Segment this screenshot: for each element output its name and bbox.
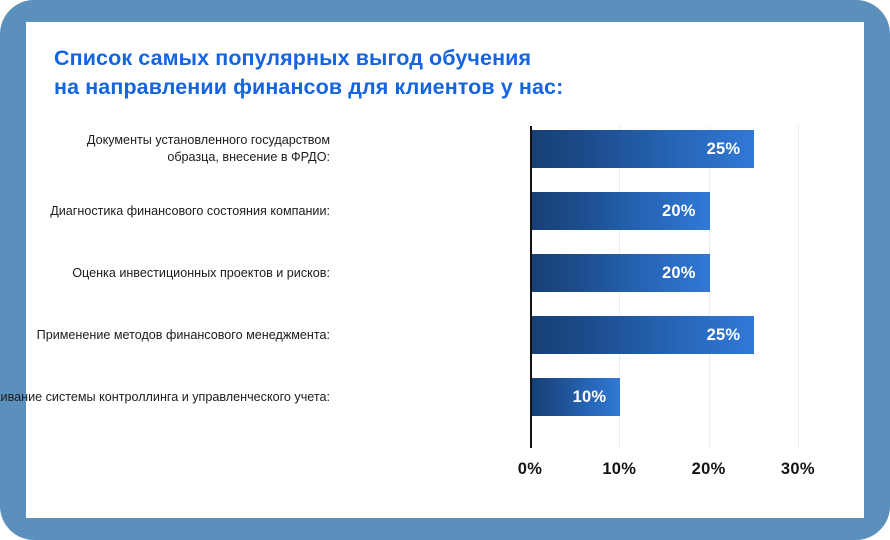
x-tick-label: 0% <box>490 460 570 479</box>
bar-row: Диагностика финансового состояния компан… <box>26 192 864 230</box>
y-axis-line <box>530 126 532 448</box>
page-title: Список самых популярных выгод обучения н… <box>54 44 754 102</box>
bar: 25% <box>531 130 754 168</box>
category-label: Оценка инвестиционных проектов и рисков: <box>0 254 330 292</box>
bar: 20% <box>531 192 710 230</box>
bar-row: Применение методов финансового менеджмен… <box>26 316 864 354</box>
category-label: Документы установленного государством об… <box>0 130 330 168</box>
bar: 25% <box>531 316 754 354</box>
bar-value-label: 20% <box>662 264 710 283</box>
bar-value-label: 10% <box>573 388 621 407</box>
category-label: Применение методов финансового менеджмен… <box>0 316 330 354</box>
bar-row: Документы установленного государством об… <box>26 130 864 168</box>
bar-chart: Документы установленного государством об… <box>26 112 864 512</box>
bar-row: Выстраивание системы контроллинга и упра… <box>26 378 864 416</box>
bar-value-label: 25% <box>707 326 755 345</box>
bar: 10% <box>531 378 620 416</box>
x-tick-label: 30% <box>758 460 838 479</box>
bar-row: Оценка инвестиционных проектов и рисков:… <box>26 254 864 292</box>
chart-card: Список самых популярных выгод обучения н… <box>26 22 864 518</box>
outer-frame: Список самых популярных выгод обучения н… <box>0 0 890 540</box>
category-label: Выстраивание системы контроллинга и упра… <box>0 378 330 416</box>
x-tick-label: 10% <box>579 460 659 479</box>
bar: 20% <box>531 254 710 292</box>
bar-value-label: 20% <box>662 202 710 221</box>
category-label: Диагностика финансового состояния компан… <box>0 192 330 230</box>
x-tick-label: 20% <box>669 460 749 479</box>
bar-value-label: 25% <box>707 140 755 159</box>
